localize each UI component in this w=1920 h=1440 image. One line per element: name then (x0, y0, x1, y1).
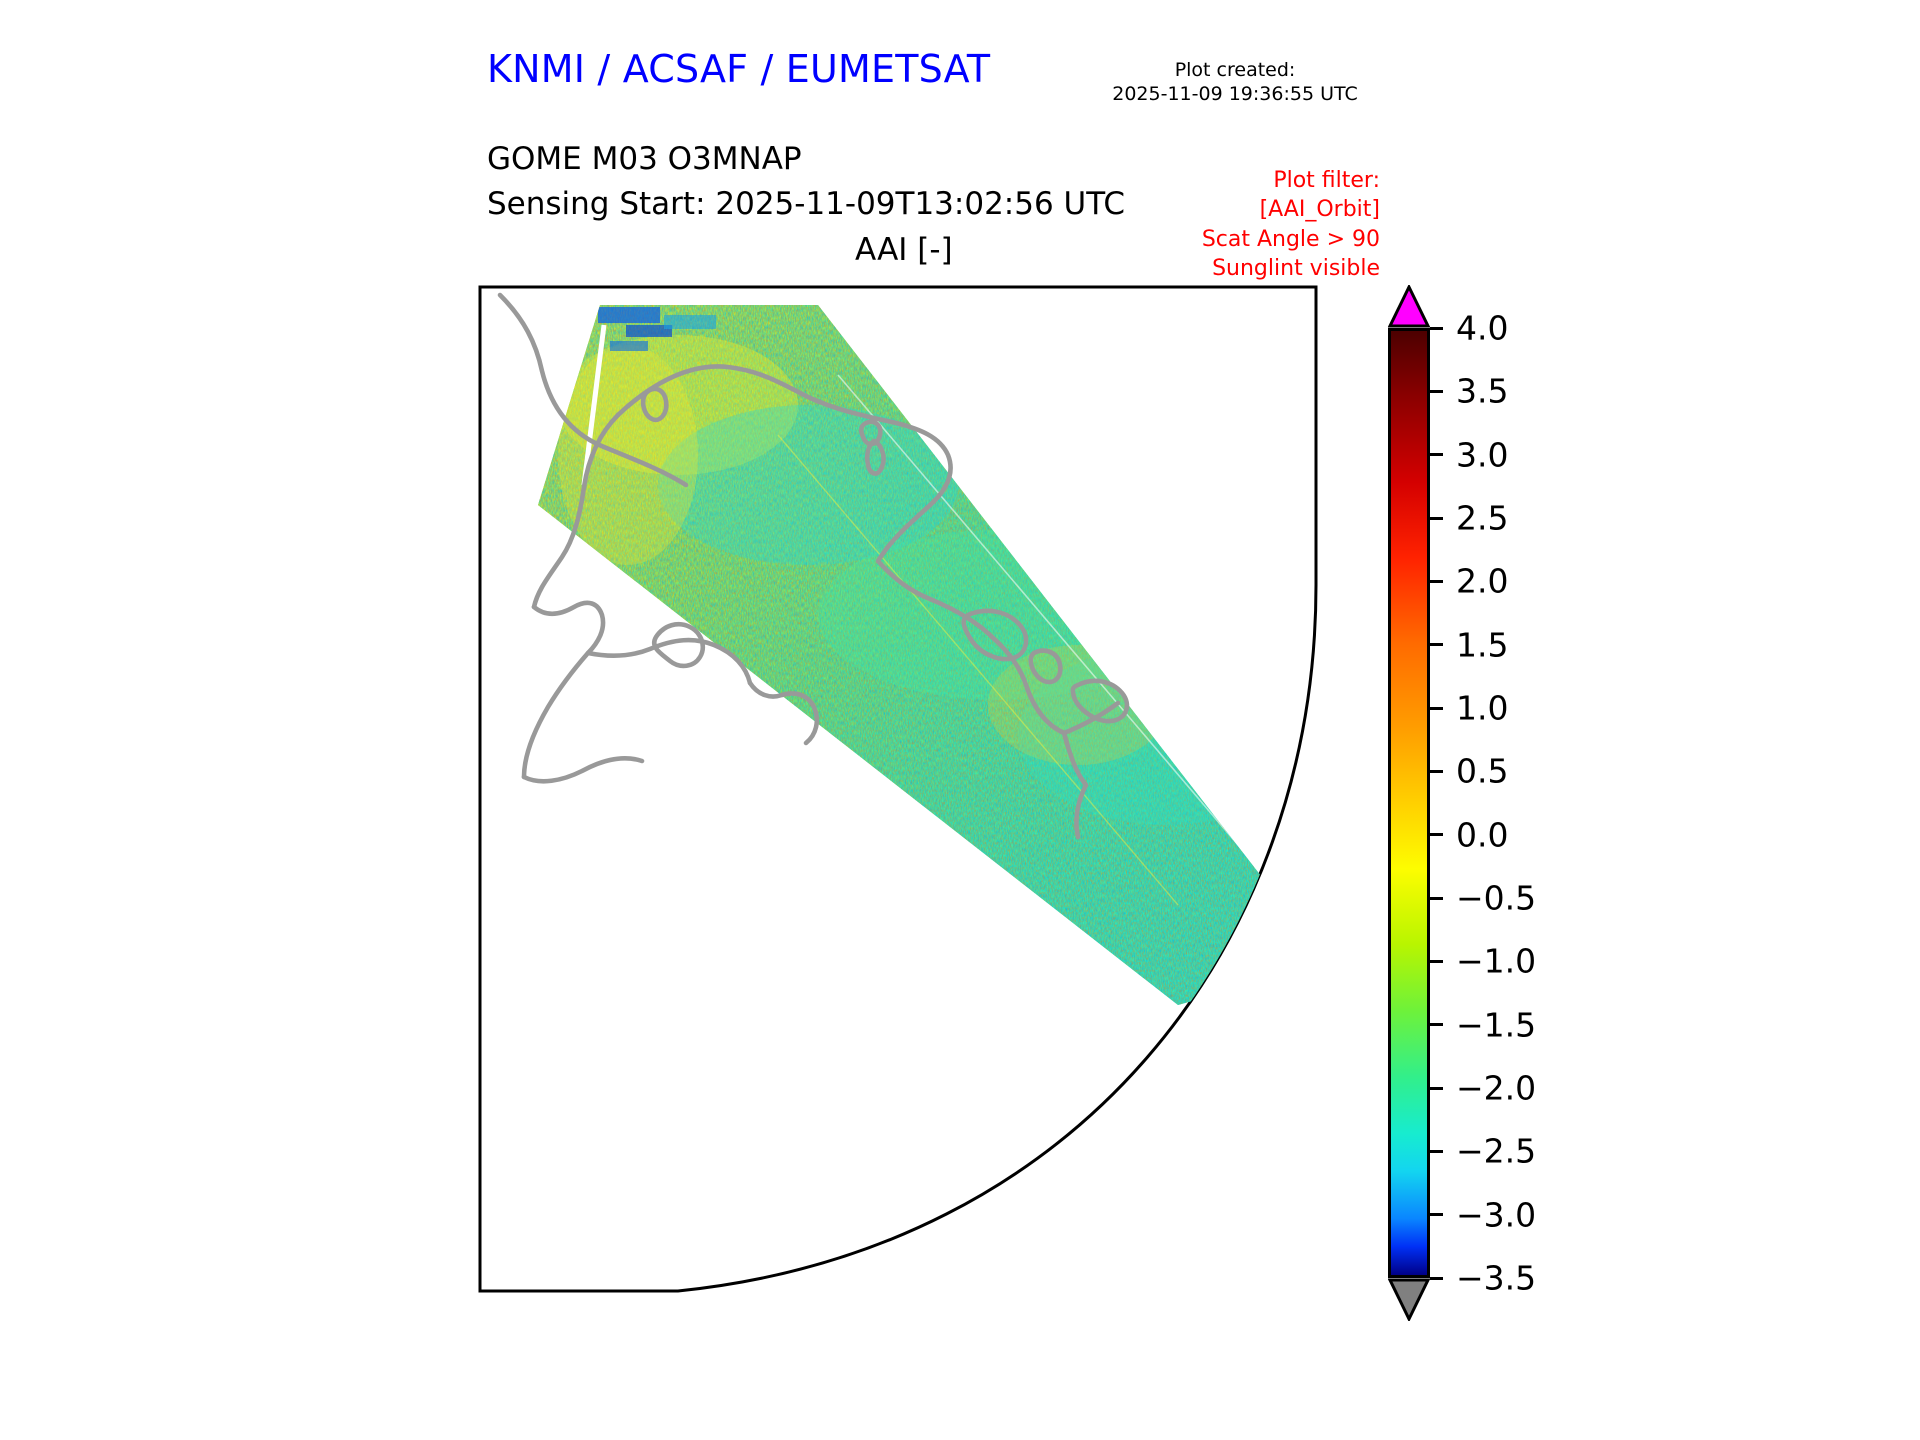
colorbar-under-arrow (1388, 1278, 1430, 1321)
colorbar-tick-mark (1430, 897, 1443, 900)
colorbar-tick-mark (1430, 1087, 1443, 1090)
colorbar-tick-mark (1430, 327, 1443, 330)
colorbar-tick-mark (1430, 517, 1443, 520)
colorbar-tick-label: 1.0 (1456, 689, 1508, 728)
colorbar-tick-mark (1430, 1150, 1443, 1153)
organization-title: KNMI / ACSAF / EUMETSAT (487, 47, 1047, 91)
plot-created-label: Plot created: (1090, 58, 1380, 82)
colorbar-gradient (1388, 328, 1430, 1278)
colorbar-tick-label: 3.5 (1456, 372, 1508, 411)
colorbar-tick-label: −0.5 (1456, 879, 1536, 918)
plot-created-block: Plot created: 2025-11-09 19:36:55 UTC (1090, 58, 1380, 107)
colorbar-tick-label: 2.5 (1456, 499, 1508, 538)
plot-created-value: 2025-11-09 19:36:55 UTC (1090, 82, 1380, 106)
quantity-title: AAI [-] (855, 232, 953, 268)
colorbar-tick-label: 4.0 (1456, 309, 1508, 348)
colorbar-tick-label: 3.0 (1456, 435, 1508, 474)
colorbar-tick-mark (1430, 1023, 1443, 1026)
colorbar-over-arrow (1388, 285, 1430, 328)
colorbar-tick-label: 2.0 (1456, 562, 1508, 601)
colorbar-tick-mark (1430, 580, 1443, 583)
plot-filter-block: Plot filter: [AAI_Orbit] Scat Angle > 90… (1120, 166, 1380, 283)
colorbar-tick-label: −2.0 (1456, 1069, 1536, 1108)
colorbar[interactable]: 4.03.53.02.52.01.51.00.50.0−0.5−1.0−1.5−… (1374, 285, 1594, 1305)
colorbar-tick-label: −1.0 (1456, 942, 1536, 981)
colorbar-tick-mark (1430, 453, 1443, 456)
colorbar-tick-mark (1430, 833, 1443, 836)
colorbar-tick-mark (1430, 707, 1443, 710)
colorbar-tick-label: −1.5 (1456, 1005, 1536, 1044)
colorbar-tick-mark (1430, 960, 1443, 963)
map-plot-area[interactable] (478, 285, 1318, 1295)
colorbar-tick-mark (1430, 770, 1443, 773)
colorbar-tick-mark (1430, 1277, 1443, 1280)
colorbar-tick-mark (1430, 390, 1443, 393)
colorbar-tick-label: −3.5 (1456, 1259, 1536, 1298)
map-canvas (478, 285, 1318, 1295)
colorbar-tick-label: −3.0 (1456, 1195, 1536, 1234)
plot-filter-line-2: Scat Angle > 90 (1120, 225, 1380, 254)
instrument-title: GOME M03 O3MNAP (487, 141, 802, 177)
colorbar-tick-mark (1430, 643, 1443, 646)
colorbar-tick-label: 0.5 (1456, 752, 1508, 791)
colorbar-tick-label: 0.0 (1456, 815, 1508, 854)
colorbar-tick-label: −2.5 (1456, 1132, 1536, 1171)
colorbar-tick-mark (1430, 1213, 1443, 1216)
plot-filter-line-0: Plot filter: (1120, 166, 1380, 195)
sensing-start-title: Sensing Start: 2025-11-09T13:02:56 UTC (487, 186, 1125, 222)
colorbar-tick-label: 1.5 (1456, 625, 1508, 664)
plot-filter-line-3: Sunglint visible (1120, 254, 1380, 283)
plot-filter-line-1: [AAI_Orbit] (1120, 195, 1380, 224)
